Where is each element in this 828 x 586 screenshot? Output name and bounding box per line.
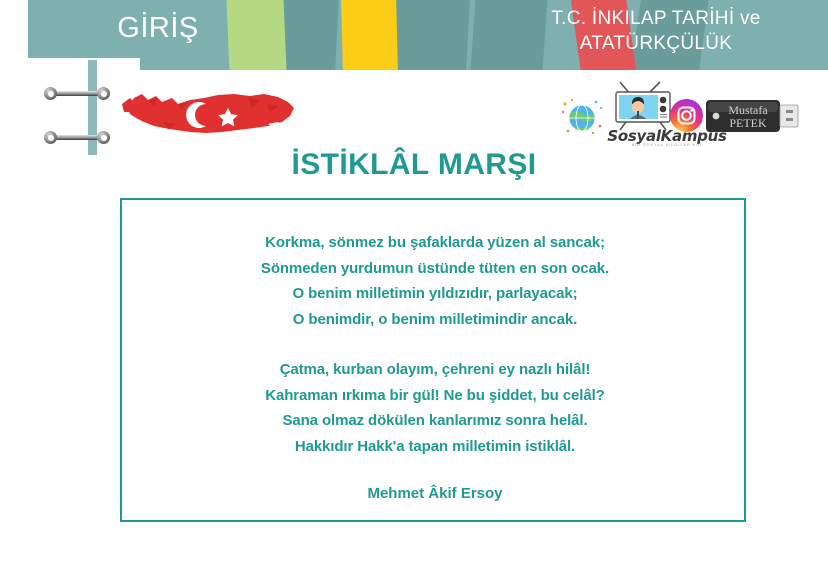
stanza-separator (122, 332, 748, 357)
header-notch (28, 58, 140, 72)
poem-line: Sönmeden yurdumun üstünde tüten en son o… (122, 256, 748, 282)
poem-line: Kahraman ırkıma bir gül! Ne bu şiddet, b… (122, 383, 748, 409)
binder-ring-icon (44, 87, 110, 100)
binder-ring-bar (53, 91, 101, 96)
usb-label-line-1: Mustafa (728, 103, 768, 117)
poem-author: Mehmet Âkif Ersoy (122, 485, 748, 502)
binder-ring-cap-right (97, 131, 110, 144)
binder-ring-cap-left (44, 87, 57, 100)
page-title: İSTİKLÂL MARŞI (0, 148, 828, 182)
binder-ring-bar (53, 135, 101, 140)
poem-stanza: Korkma, sönmez bu şafaklarda yüzen al sa… (122, 230, 748, 332)
subject-title: T.C. İNKILAP TARİHİ ve ATATÜRKÇÜLÜK (506, 6, 806, 56)
binder-ring-cap-left (44, 131, 57, 144)
poem-body: Korkma, sönmez bu şafaklarda yüzen al sa… (122, 230, 748, 502)
poem-line: O benim milletimin yıldızıdır, parlayaca… (122, 281, 748, 307)
poem-line: O benimdir, o benim milletimindir ancak. (122, 307, 748, 333)
poem-line: Çatma, kurban olayım, çehreni ey nazlı h… (122, 357, 748, 383)
poem-line: Korkma, sönmez bu şafaklarda yüzen al sa… (122, 230, 748, 256)
poem-line: Sana olmaz dökülen kanlarımız sonra helâ… (122, 408, 748, 434)
tv-logo-icon (608, 80, 678, 132)
poem-line: Hakkıdır Hakk'a tapan milletimin istiklâ… (122, 434, 748, 460)
binder-ring-icon (44, 131, 110, 144)
branding-logo-cluster: Mustafa PETEK SosyalKampüs BİR SOSYAL Bİ… (556, 80, 818, 152)
subject-title-line-1: T.C. İNKILAP TARİHİ ve (506, 6, 806, 31)
binder-ring-cap-right (97, 87, 110, 100)
sosyalkampus-tagline: BİR SOSYAL BİLGİLER AĞI (592, 143, 742, 147)
section-label: GİRİŞ (88, 12, 228, 45)
header-card-yellow (341, 0, 398, 70)
header-shadow-slab (388, 0, 470, 70)
turkey-map-icon (118, 78, 300, 148)
poem-stanza: Çatma, kurban olayım, çehreni ey nazlı h… (122, 357, 748, 459)
subject-title-line-2: ATATÜRKÇÜLÜK (506, 31, 806, 56)
header-banner: GİRİŞ T.C. İNKILAP TARİHİ ve ATATÜRKÇÜLÜ… (28, 0, 828, 70)
header-card-green (226, 0, 286, 70)
poem-box: Korkma, sönmez bu şafaklarda yüzen al sa… (120, 198, 746, 522)
